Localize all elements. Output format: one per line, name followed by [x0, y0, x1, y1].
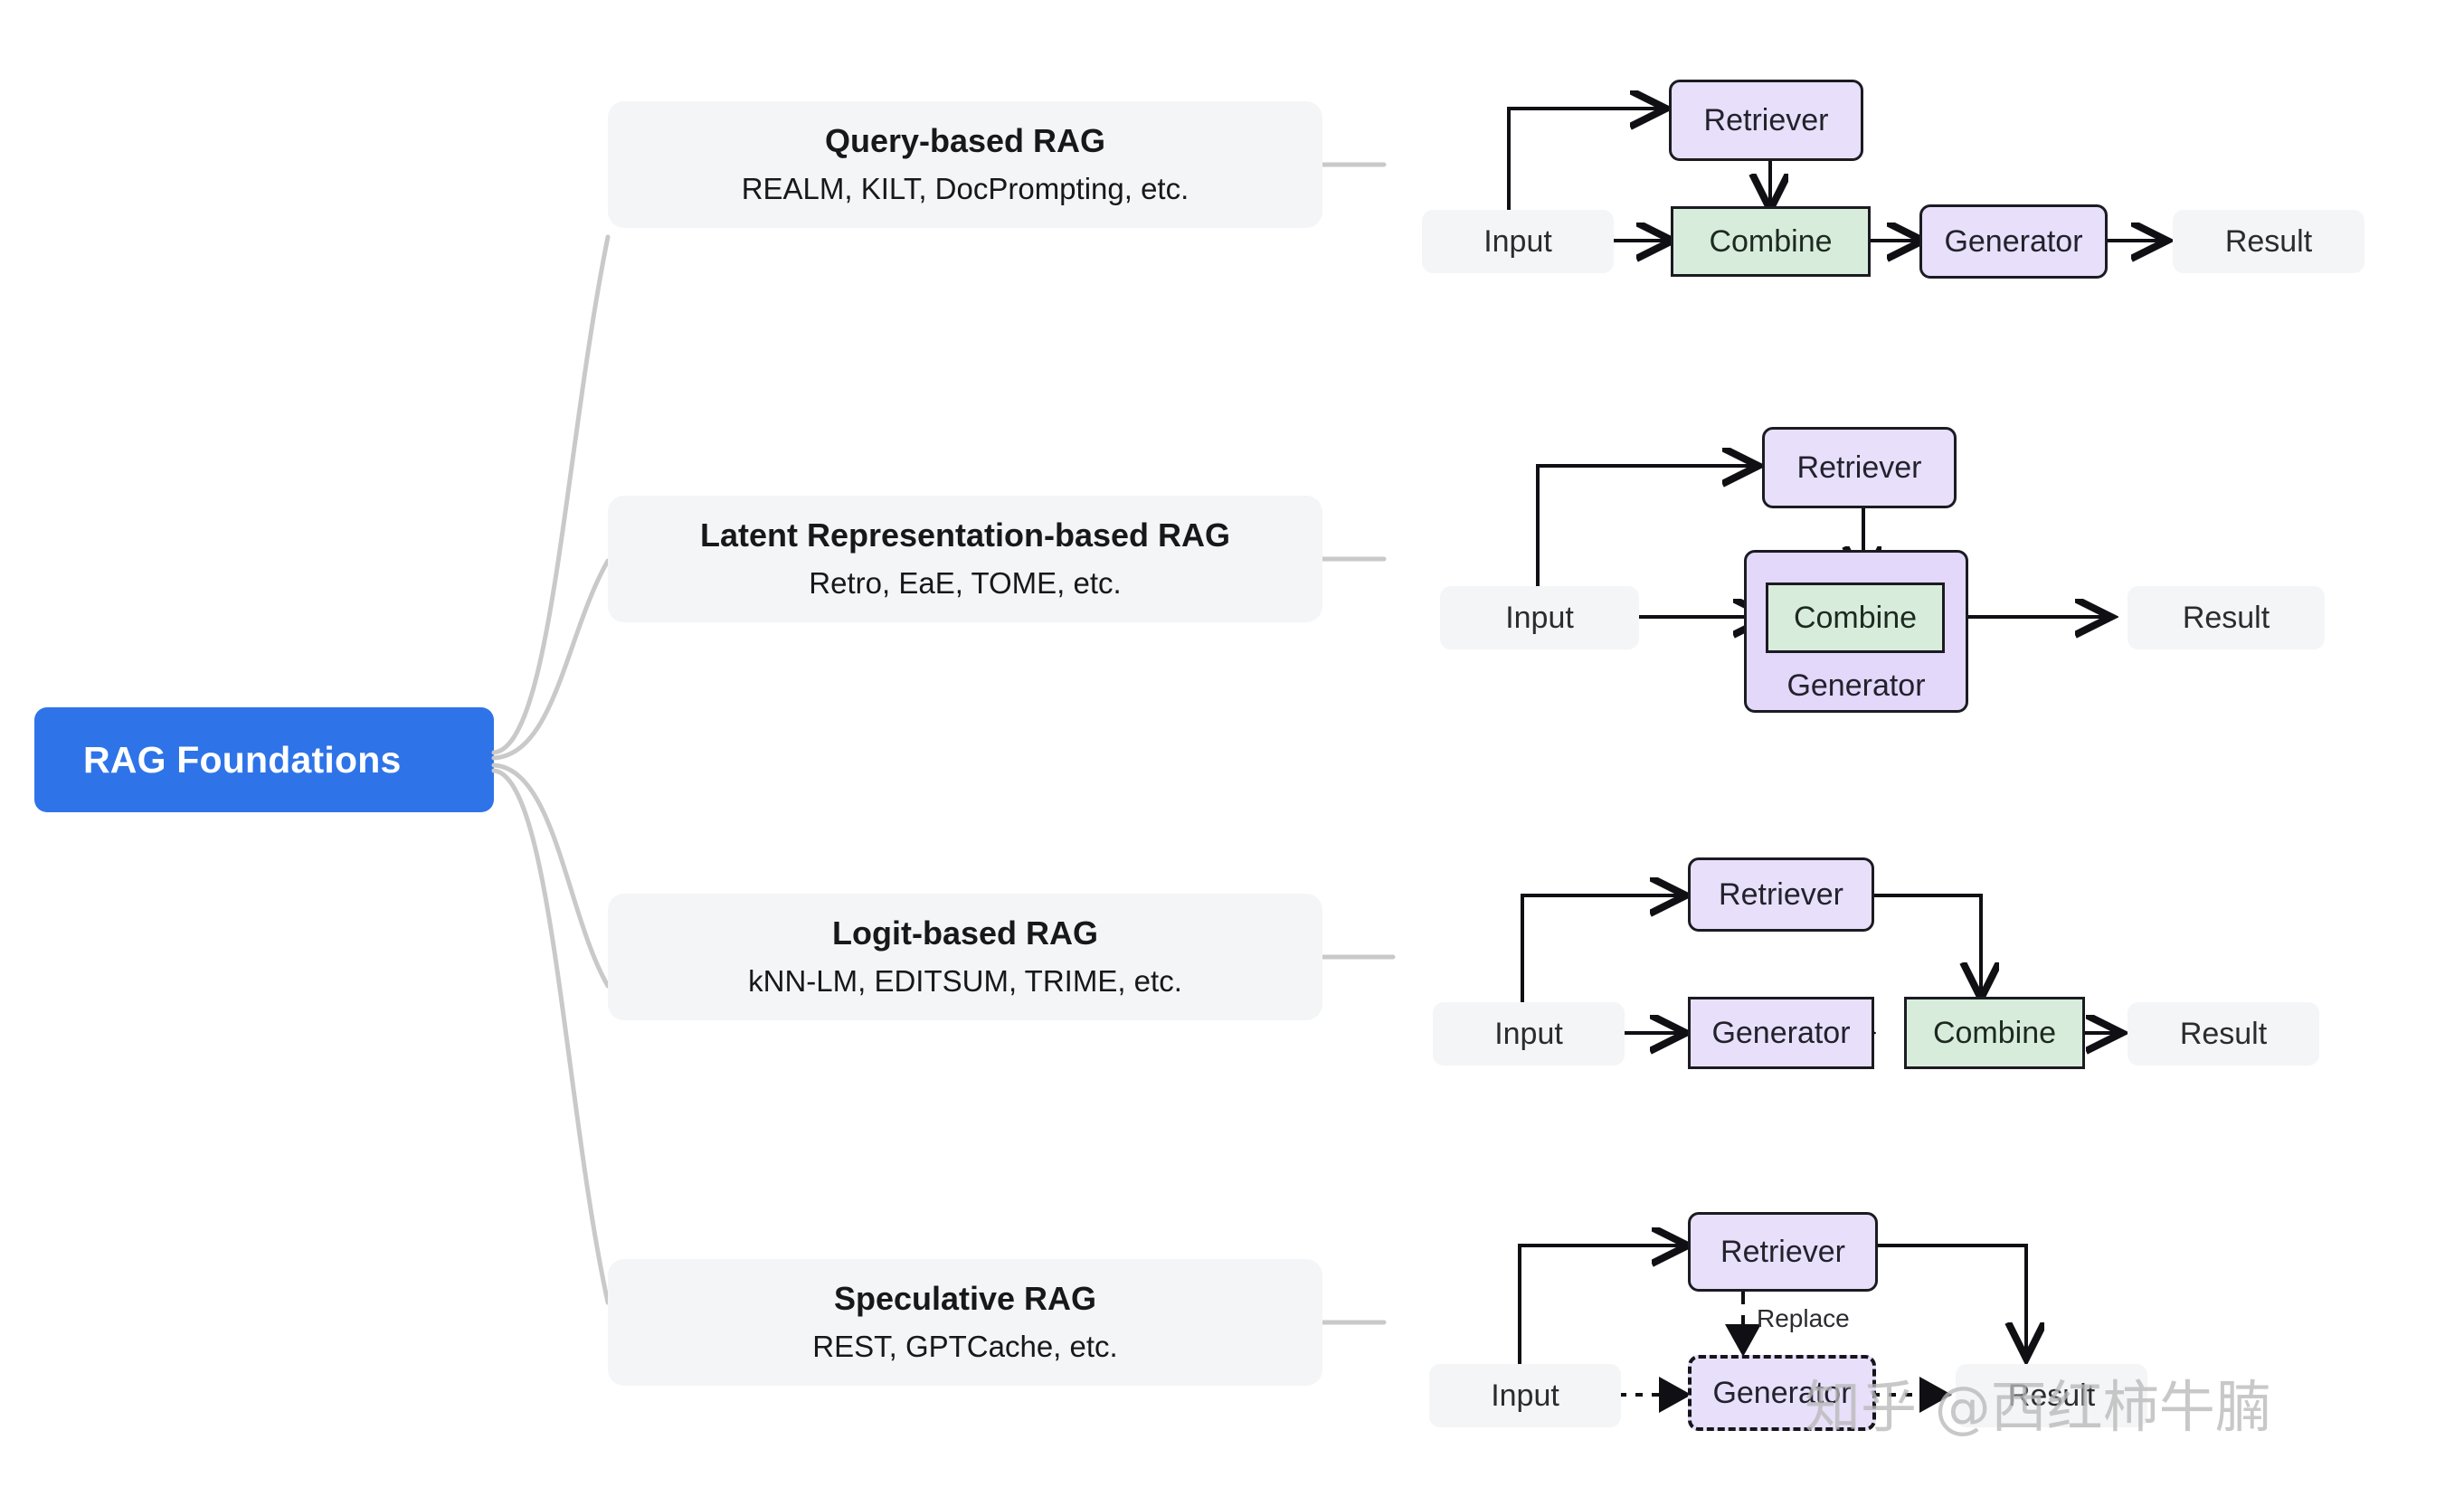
flow-node-label: Input: [1491, 1380, 1559, 1411]
watermark: 知乎 @西红柿牛腩: [1805, 1361, 2271, 1443]
edge-label-replace: Replace: [1757, 1304, 1850, 1333]
flow-node-retriever[interactable]: Retriever: [1688, 1212, 1878, 1292]
flow-node-input[interactable]: Input: [1429, 1364, 1621, 1427]
flow-diagram-speculative-rag: Input Retriever Generator Result Replace: [0, 0, 2464, 1506]
flow-wires-3: [0, 0, 2464, 1506]
flow-node-label: Retriever: [1720, 1236, 1845, 1267]
wire-input-to-retriever: [1520, 1246, 1684, 1366]
